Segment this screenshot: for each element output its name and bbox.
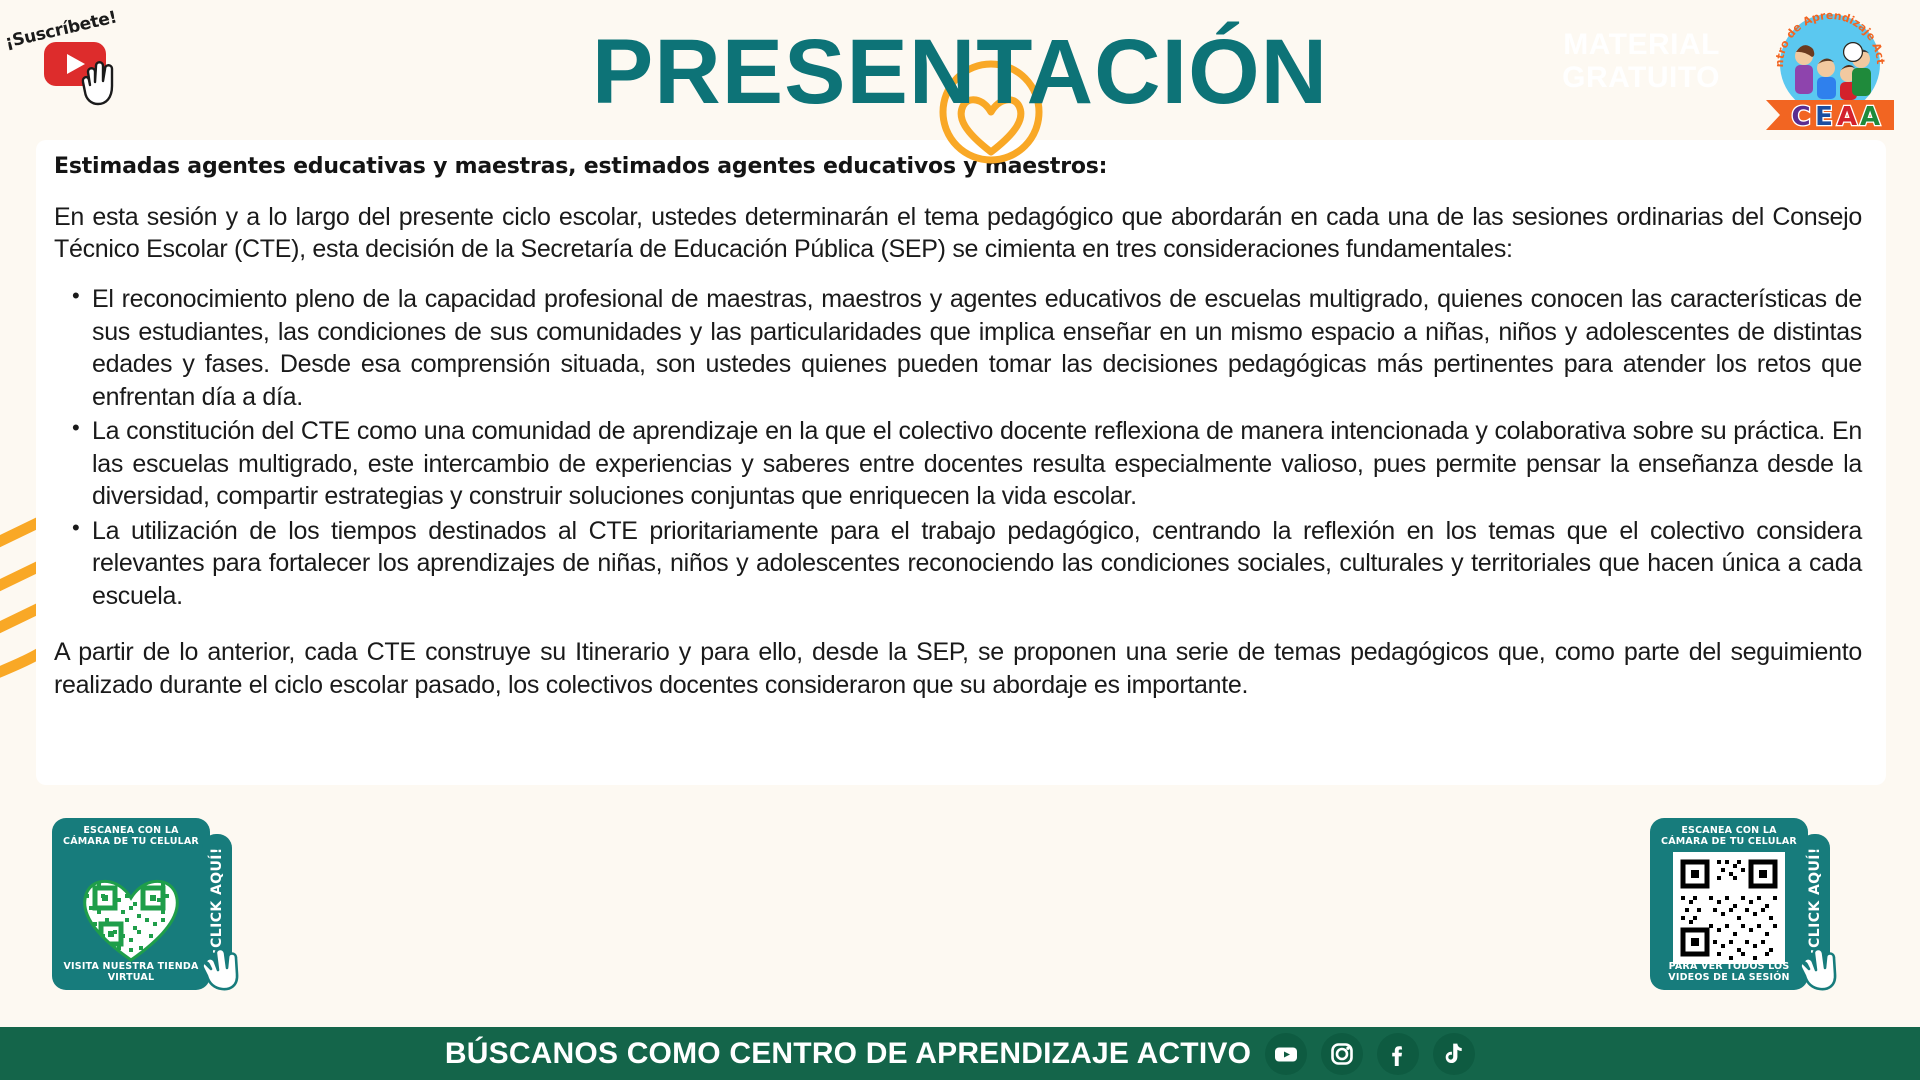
- qr-footer-line-1: PARA VER TODOS LOS: [1650, 961, 1808, 972]
- qr-caption-line-1: ESCANEA CON LA: [1656, 825, 1802, 836]
- qr-caption-line-2: CÁMARA DE TU CELULAR: [1656, 836, 1802, 847]
- qr-panel: ESCANEA CON LA CÁMARA DE TU CELULAR: [52, 818, 210, 990]
- qr-footer-line-2: VIDEOS DE LA SESIÓN: [1650, 972, 1808, 983]
- ceaa-logo: Centro de Aprendizaje Activo C E A A: [1760, 4, 1900, 136]
- svg-text:C: C: [1791, 102, 1810, 132]
- click-here-label: ¡CLICK AQUÍ!: [1807, 847, 1823, 954]
- list-item: La utilización de los tiempos destinados…: [92, 515, 1862, 613]
- material-gratuito-watermark: MATERIAL GRATUITO: [1562, 28, 1720, 94]
- qr-footer-line-1: VISITA NUESTRA TIENDA: [52, 961, 210, 972]
- qr-footer: VISITA NUESTRA TIENDA VIRTUAL: [52, 961, 210, 983]
- hand-cursor-icon: [80, 56, 120, 108]
- intro-paragraph: En esta sesión y a lo largo del presente…: [54, 201, 1862, 265]
- heart-qr-code[interactable]: [75, 852, 187, 964]
- subscribe-badge[interactable]: ¡Suscríbete!: [2, 6, 142, 111]
- facebook-icon[interactable]: [1377, 1033, 1419, 1075]
- watermark-line-1: MATERIAL: [1562, 28, 1720, 61]
- footer-text: BÚSCANOS COMO CENTRO DE APRENDIZAJE ACTI…: [445, 1037, 1251, 1071]
- list-item: El reconocimiento pleno de la capacidad …: [92, 283, 1862, 413]
- closing-paragraph: A partir de lo anterior, cada CTE constr…: [54, 636, 1862, 701]
- list-item: La constitución del CTE como una comunid…: [92, 415, 1862, 513]
- footer-bar: BÚSCANOS COMO CENTRO DE APRENDIZAJE ACTI…: [0, 1027, 1920, 1080]
- click-here-label: ¡CLICK AQUÍ!: [209, 847, 225, 954]
- hand-cursor-icon: [200, 944, 246, 992]
- qr-footer: PARA VER TODOS LOS VIDEOS DE LA SESIÓN: [1650, 961, 1808, 983]
- svg-text:A: A: [1837, 102, 1857, 132]
- tiktok-icon[interactable]: [1433, 1033, 1475, 1075]
- qr-caption-line-1: ESCANEA CON LA: [58, 825, 204, 836]
- square-qr-code[interactable]: [1673, 852, 1785, 964]
- qr-block-store[interactable]: ESCANEA CON LA CÁMARA DE TU CELULAR: [52, 818, 252, 990]
- content-card: Estimadas agentes educativas y maestras,…: [36, 140, 1886, 785]
- hand-cursor-icon: [1798, 944, 1844, 992]
- qr-block-videos[interactable]: ESCANEA CON LA CÁMARA DE TU CELULAR: [1650, 818, 1850, 990]
- considerations-list: El reconocimiento pleno de la capacidad …: [54, 283, 1862, 612]
- svg-text:A: A: [1860, 102, 1880, 132]
- qr-caption-line-2: CÁMARA DE TU CELULAR: [58, 836, 204, 847]
- svg-text:E: E: [1815, 102, 1833, 132]
- instagram-icon[interactable]: [1321, 1033, 1363, 1075]
- watermark-line-2: GRATUITO: [1562, 61, 1720, 94]
- qr-footer-line-2: VIRTUAL: [52, 972, 210, 983]
- youtube-icon[interactable]: [1265, 1033, 1307, 1075]
- qr-panel: ESCANEA CON LA CÁMARA DE TU CELULAR: [1650, 818, 1808, 990]
